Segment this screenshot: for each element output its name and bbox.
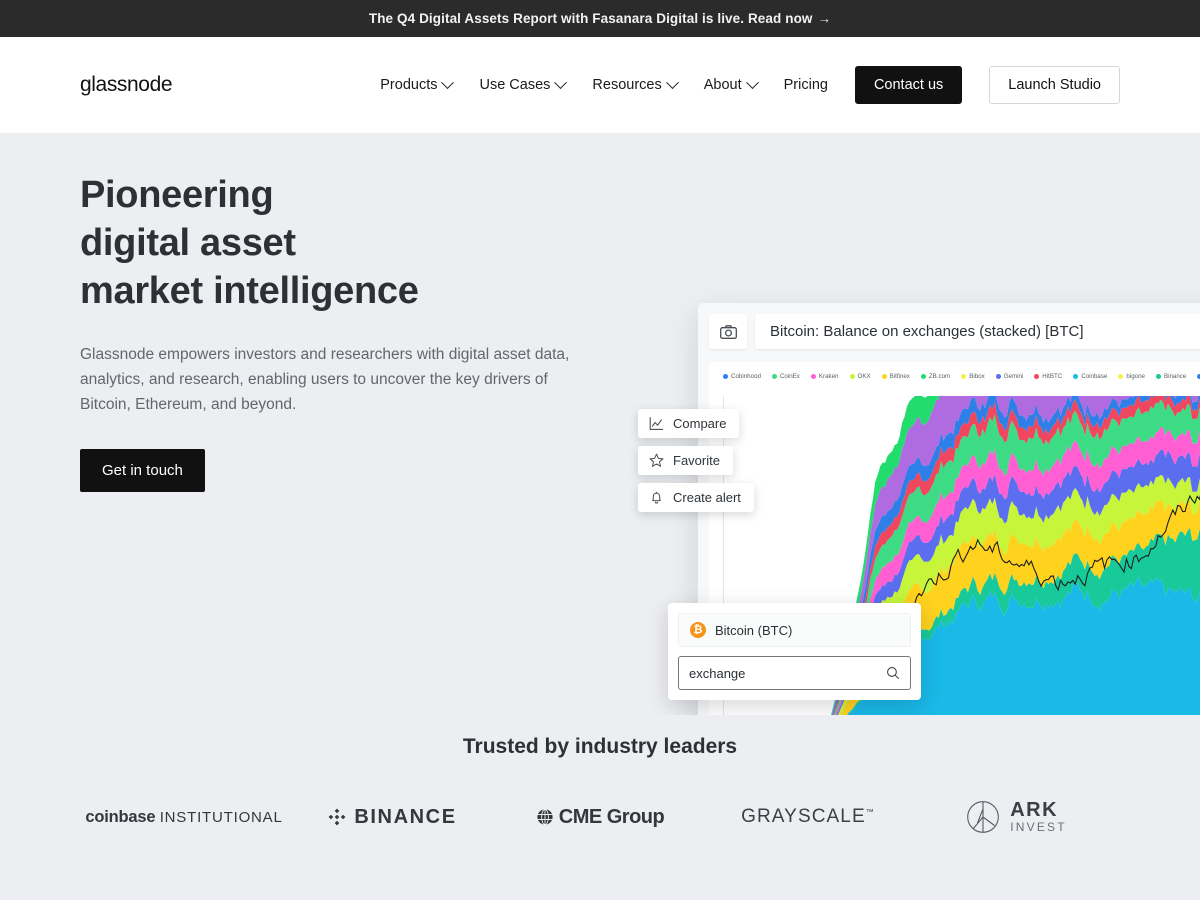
legend-item[interactable]: Kraken	[811, 373, 839, 380]
cme-globe-icon	[536, 808, 554, 826]
legend-item[interactable]: Coinbase	[1073, 373, 1107, 380]
bitcoin-icon: ₿	[690, 622, 706, 638]
legend-item[interactable]: CoinEx	[772, 373, 800, 380]
nav-label-resources: Resources	[592, 77, 661, 93]
chevron-down-icon	[746, 76, 759, 89]
hero-section: Pioneering digital asset market intellig…	[0, 133, 1200, 715]
logo-cme-group: CME Group	[496, 806, 704, 829]
nav-label-pricing: Pricing	[784, 77, 828, 93]
nav-label-products: Products	[380, 77, 437, 93]
trusted-section: Trusted by industry leaders coinbase INS…	[0, 715, 1200, 900]
legend-item[interactable]: ZB.com	[921, 373, 950, 380]
announcement-bar[interactable]: The Q4 Digital Assets Report with Fasana…	[0, 0, 1200, 37]
hero-copy: Pioneering digital asset market intellig…	[80, 171, 620, 492]
cme-wordmark: CME Group	[559, 806, 665, 829]
metric-search-row[interactable]	[678, 656, 911, 690]
camera-icon[interactable]	[709, 314, 747, 349]
chart-action-chips: Compare Favorite Create alert	[638, 409, 754, 520]
favorite-button[interactable]: Favorite	[638, 446, 733, 475]
hero-subheading: Glassnode empowers investors and researc…	[80, 342, 580, 417]
logo-binance: BINANCE	[288, 806, 496, 829]
nav-item-use-cases[interactable]: Use Cases	[479, 77, 565, 93]
favorite-label: Favorite	[673, 453, 720, 468]
nav-label-about: About	[704, 77, 742, 93]
selected-asset-row[interactable]: ₿ Bitcoin (BTC)	[678, 613, 911, 647]
invest-wordmark: INVEST	[1010, 821, 1067, 834]
legend-item[interactable]: Binance	[1156, 373, 1186, 380]
compare-button[interactable]: Compare	[638, 409, 739, 438]
contact-us-button[interactable]: Contact us	[855, 66, 962, 104]
search-icon	[886, 666, 900, 680]
logo-grayscale: GRAYSCALE™	[704, 806, 912, 828]
legend-item[interactable]: bigone	[1118, 373, 1145, 380]
grayscale-wordmark: GRAYSCALE	[741, 806, 866, 827]
binance-diamond-icon	[327, 807, 347, 827]
trusted-heading: Trusted by industry leaders	[0, 715, 1200, 759]
legend-item[interactable]: Gemini	[996, 373, 1024, 380]
page-title: Pioneering digital asset market intellig…	[80, 171, 620, 315]
chart-title: Bitcoin: Balance on exchanges (stacked) …	[755, 314, 1200, 349]
nav-label-use-cases: Use Cases	[479, 77, 550, 93]
nav-item-about[interactable]: About	[704, 77, 757, 93]
selected-asset-label: Bitcoin (BTC)	[715, 623, 792, 638]
create-alert-label: Create alert	[673, 490, 741, 505]
studio-toolbar: Bitcoin: Balance on exchanges (stacked) …	[709, 314, 1200, 349]
chevron-down-icon	[442, 76, 455, 89]
chevron-down-icon	[666, 76, 679, 89]
line-chart-icon	[649, 416, 664, 431]
search-input[interactable]	[689, 666, 886, 681]
partner-logos: coinbase INSTITUTIONAL BINANCE	[0, 759, 1200, 835]
ark-circle-icon	[965, 799, 1001, 835]
legend-item[interactable]: Bibox	[961, 373, 984, 380]
announcement-text: The Q4 Digital Assets Report with Fasana…	[369, 11, 813, 26]
chart-legend: Cobinhood CoinEx Kraken OKX Bitfinex ZB.…	[709, 373, 1200, 380]
star-icon	[649, 453, 664, 468]
legend-item[interactable]: HitBTC	[1034, 373, 1062, 380]
main-navigation: Products Use Cases Resources About Prici…	[380, 66, 1120, 104]
bell-icon	[649, 490, 664, 505]
glassnode-logo[interactable]: glassnode	[80, 73, 172, 97]
legend-item[interactable]: Bitfinex	[882, 373, 910, 380]
chevron-down-icon	[555, 76, 568, 89]
legend-item[interactable]: Cobinhood	[723, 373, 761, 380]
launch-studio-button[interactable]: Launch Studio	[989, 66, 1120, 104]
coinbase-wordmark: coinbase	[85, 808, 155, 826]
nav-item-pricing[interactable]: Pricing	[784, 77, 828, 93]
get-in-touch-button[interactable]: Get in touch	[80, 449, 205, 492]
asset-search-panel: ₿ Bitcoin (BTC)	[668, 603, 921, 700]
logo-coinbase-institutional: coinbase INSTITUTIONAL	[80, 808, 288, 827]
arrow-right-icon: →	[818, 11, 832, 26]
binance-wordmark: BINANCE	[354, 806, 456, 829]
logo-ark-invest: ARK INVEST	[912, 799, 1120, 835]
create-alert-button[interactable]: Create alert	[638, 483, 754, 512]
site-header: glassnode Products Use Cases Resources A…	[0, 37, 1200, 133]
nav-item-resources[interactable]: Resources	[592, 77, 676, 93]
nav-item-products[interactable]: Products	[380, 77, 452, 93]
ark-wordmark: ARK	[1010, 800, 1067, 821]
coinbase-suffix: INSTITUTIONAL	[160, 809, 283, 826]
legend-item[interactable]: OKX	[850, 373, 871, 380]
compare-label: Compare	[673, 416, 726, 431]
